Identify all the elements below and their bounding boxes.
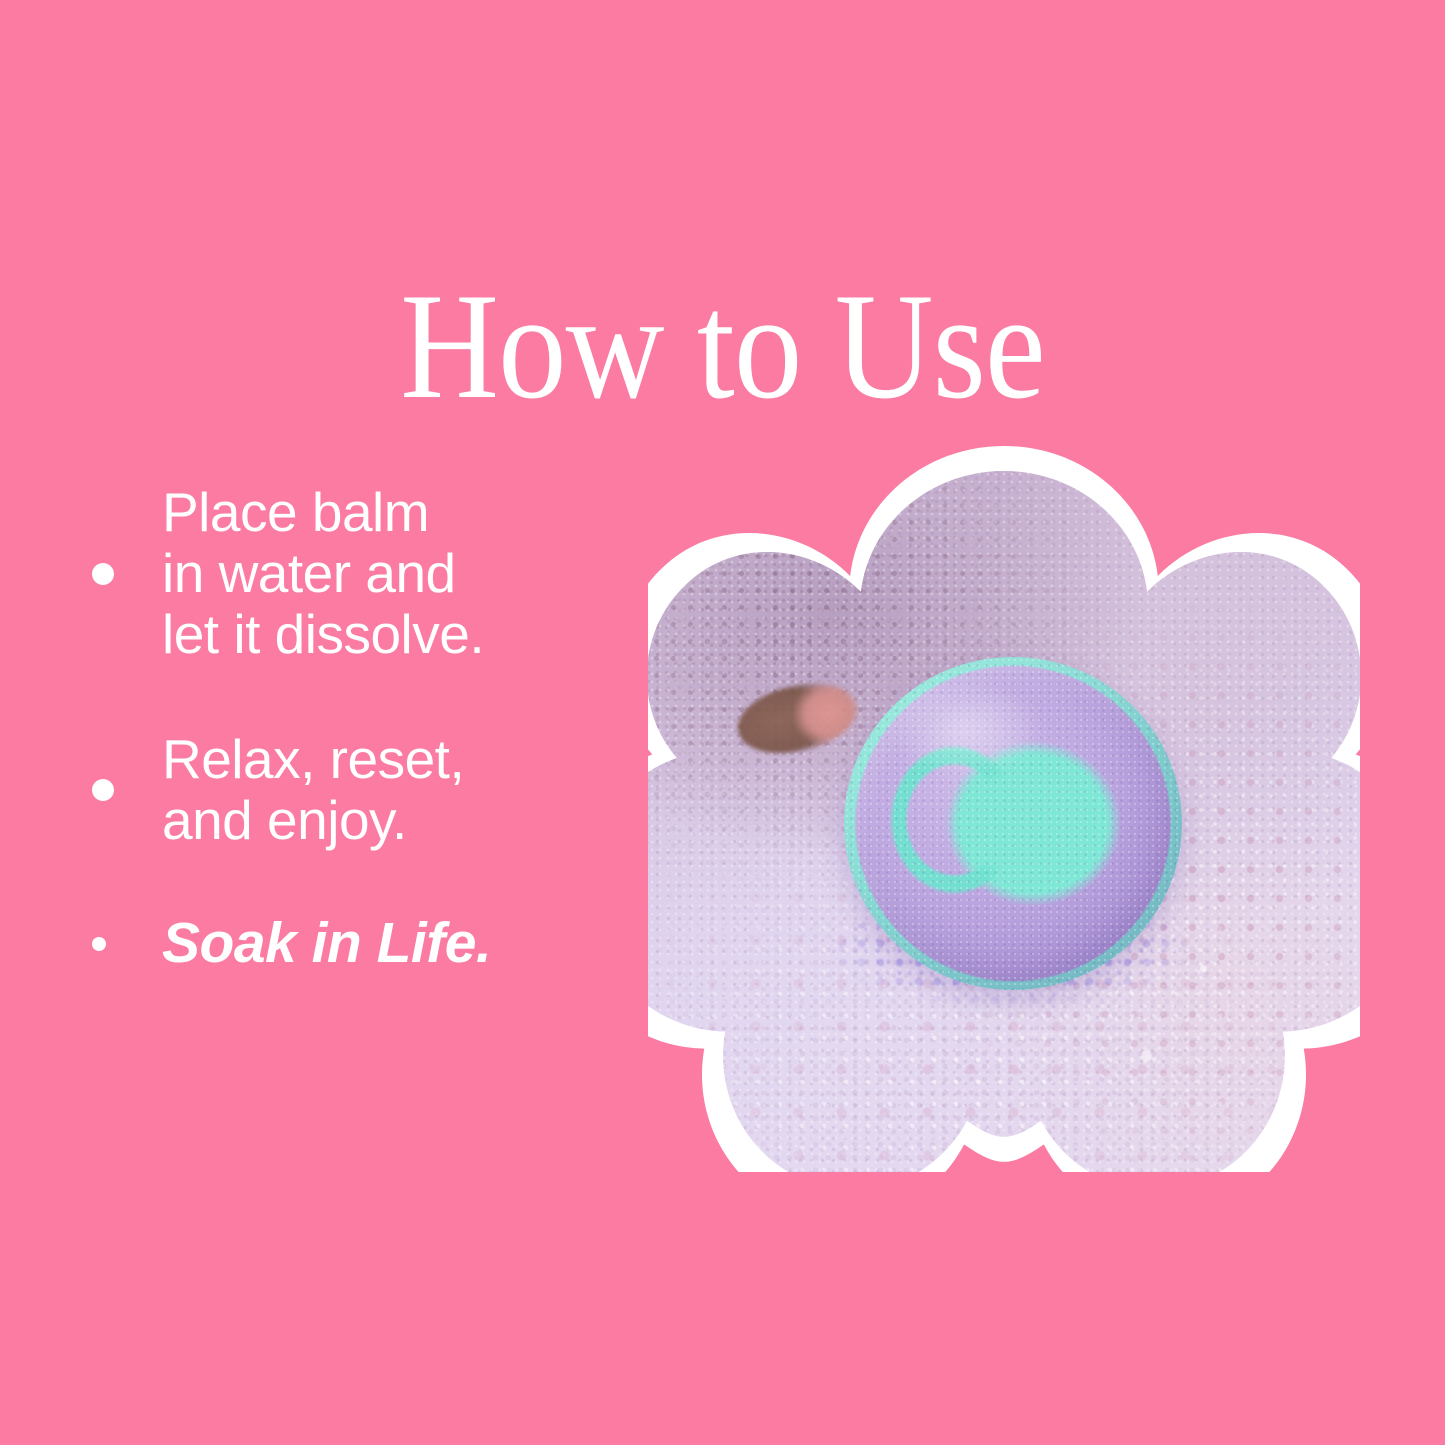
bullet-wrap xyxy=(92,779,162,801)
list-item: Place balm in water and let it dissolve. xyxy=(92,482,652,665)
instruction-steps-list: Place balm in water and let it dissolve.… xyxy=(92,482,652,974)
bath-bomb-photo xyxy=(648,446,1360,1172)
step-text: Relax, reset, and enjoy. xyxy=(162,729,464,851)
how-to-use-poster: How to Use Place balm in water and let i… xyxy=(0,0,1445,1445)
list-item: Relax, reset, and enjoy. xyxy=(92,729,652,851)
step-text-emphasis: Soak in Life. xyxy=(162,913,491,974)
product-image-flower-frame xyxy=(648,446,1360,1172)
bullet-dot-icon xyxy=(92,779,114,801)
bullet-wrap xyxy=(92,563,162,585)
bath-bomb-highlight xyxy=(891,683,1074,797)
page-title: How to Use xyxy=(72,270,1373,422)
bullet-dot-icon xyxy=(92,563,114,585)
bullet-wrap xyxy=(92,937,162,951)
bullet-dot-small-icon xyxy=(92,937,106,951)
step-text: Place balm in water and let it dissolve. xyxy=(162,482,484,665)
list-item: Soak in Life. xyxy=(92,913,652,974)
bath-bomb xyxy=(844,657,1182,991)
